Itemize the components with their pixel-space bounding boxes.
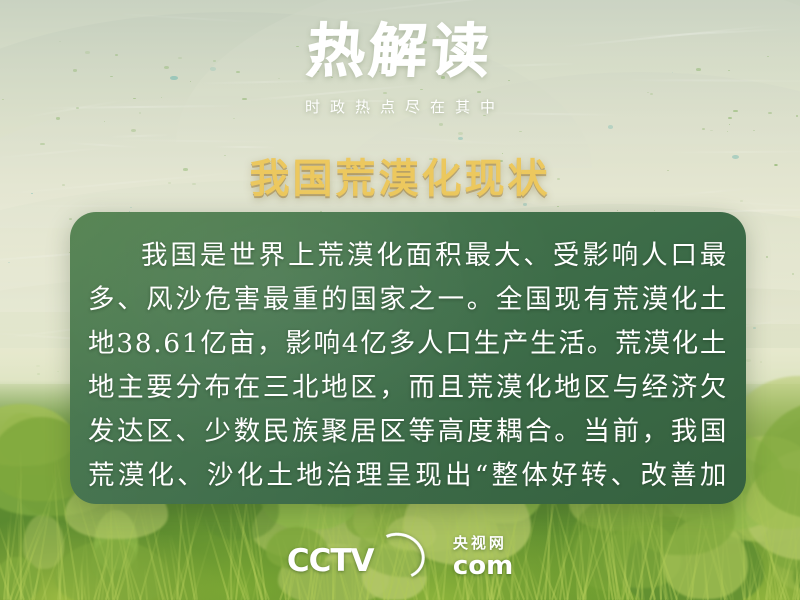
brand-logo: 热解读 时政热点尽在其中 bbox=[0, 22, 800, 117]
vegetation-speck bbox=[37, 373, 40, 375]
vegetation-speck bbox=[56, 117, 61, 120]
cctv-chinese-name: 央视网 bbox=[453, 536, 513, 551]
vegetation-speck bbox=[766, 256, 768, 257]
vegetation-speck bbox=[702, 128, 705, 130]
brand-logo-title: 热解读 bbox=[0, 22, 800, 80]
vegetation-speck bbox=[760, 361, 762, 362]
vegetation-speck bbox=[439, 123, 443, 125]
article-body-text: 我国是世界上荒漠化面积最大、受影响人口最多、风沙危害最重的国家之一。全国现有荒漠… bbox=[70, 212, 746, 504]
vegetation-speck bbox=[131, 129, 136, 132]
cctv-logo: CCTV 央视网 com bbox=[0, 535, 800, 579]
vegetation-speck bbox=[753, 327, 757, 329]
vegetation-speck bbox=[519, 131, 522, 133]
vegetation-speck bbox=[792, 273, 795, 275]
brand-logo-subtitle: 时政热点尽在其中 bbox=[0, 96, 800, 117]
vegetation-speck bbox=[608, 125, 614, 128]
cctv-domain-block: 央视网 com bbox=[453, 536, 513, 579]
vegetation-speck bbox=[8, 262, 10, 263]
vegetation-speck bbox=[746, 359, 751, 362]
cctv-com-text: com bbox=[453, 553, 513, 579]
poster-canvas: 热解读 时政热点尽在其中 我国荒漠化现状 我国是世界上荒漠化面积最大、受影响人口… bbox=[0, 0, 800, 600]
vegetation-speck bbox=[710, 130, 713, 132]
vegetation-speck bbox=[557, 206, 558, 207]
cctv-swoosh-icon bbox=[367, 526, 431, 586]
cctv-letters: CCTV bbox=[287, 543, 374, 579]
sand-streak bbox=[10, 205, 171, 207]
page-title: 我国荒漠化现状 bbox=[0, 146, 800, 204]
cctv-wordmark: CCTV bbox=[287, 535, 463, 579]
content-panel: 我国是世界上荒漠化面积最大、受影响人口最多、风沙危害最重的国家之一。全国现有荒漠… bbox=[70, 212, 746, 504]
